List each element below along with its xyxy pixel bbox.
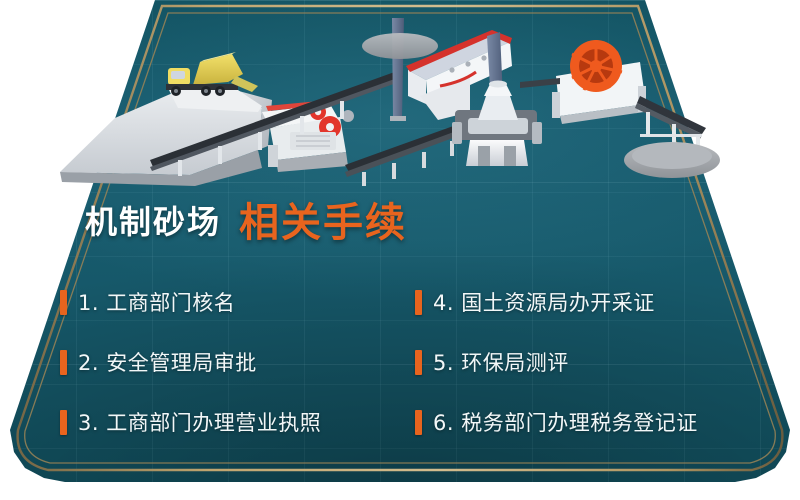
bullet-bar-icon xyxy=(415,350,422,375)
list-item[interactable]: 2. 安全管理局审批 xyxy=(60,332,415,392)
bullet-bar-icon xyxy=(415,290,422,315)
list-item-label: 5. 环保局测评 xyxy=(433,347,569,377)
list-item[interactable]: 1. 工商部门核名 xyxy=(60,272,415,332)
title-highlight: 相关手续 xyxy=(239,203,407,243)
bullet-bar-icon xyxy=(60,290,67,315)
list-item[interactable]: 6. 税务部门办理税务登记证 xyxy=(415,392,750,452)
list-item-label: 4. 国土资源局办开采证 xyxy=(433,287,655,317)
list-item[interactable]: 3. 工商部门办理营业执照 xyxy=(60,392,415,452)
list-item-label: 3. 工商部门办理营业执照 xyxy=(78,407,321,437)
page-title: 机制砂场 相关手续 xyxy=(85,197,407,243)
bullet-bar-icon xyxy=(60,350,67,375)
list-item-label: 1. 工商部门核名 xyxy=(78,287,235,317)
list-item-label: 2. 安全管理局审批 xyxy=(78,347,257,377)
list-item[interactable]: 4. 国土资源局办开采证 xyxy=(415,272,750,332)
list-item[interactable]: 5. 环保局测评 xyxy=(415,332,750,392)
poster-canvas: 机制砂场 相关手续 1. 工商部门核名 4. 国土资源局办开采证 2. 安全管理… xyxy=(0,0,800,500)
title-lead: 机制砂场 xyxy=(85,197,221,243)
list-item-label: 6. 税务部门办理税务登记证 xyxy=(433,407,698,437)
procedure-list: 1. 工商部门核名 4. 国土资源局办开采证 2. 安全管理局审批 5. 环保局… xyxy=(60,272,750,452)
bullet-bar-icon xyxy=(60,410,67,435)
bullet-bar-icon xyxy=(415,410,422,435)
